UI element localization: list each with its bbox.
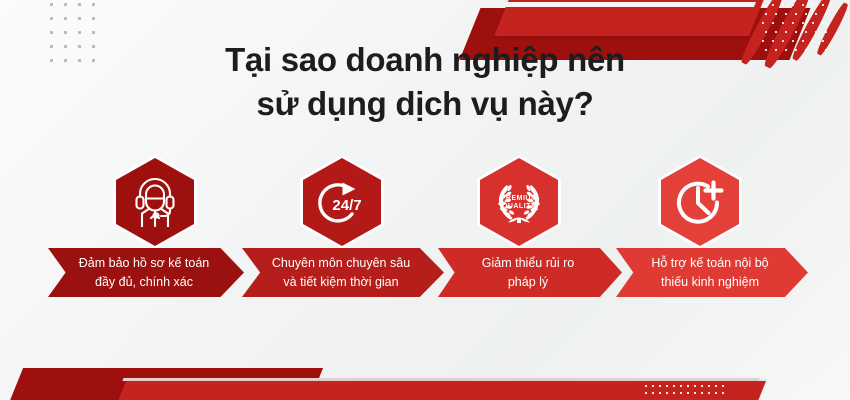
dot [645,392,647,394]
dot [708,385,710,387]
dot [815,13,817,15]
dot [680,385,682,387]
dot [782,4,784,6]
dot [792,22,794,24]
page-title-line-2: sử dụng dịch vụ này? [0,82,850,126]
step-arrow-3-line-2: pháp lý [482,273,574,291]
step-arrow-1[interactable]: Đảm bảo hồ sơ kế toán đầy đủ, chính xác [48,248,244,297]
step-arrow-2-text: Chuyên môn chuyên sâu và tiết kiệm thời … [250,254,436,290]
step-arrow-4-text: Hỗ trợ kế toán nội bộ thiếu kinh nghiệm [629,254,794,290]
page-title: Tại sao doanh nghiệp nên sử dụng dịch vụ… [0,38,850,125]
step-arrow-3[interactable]: Giảm thiểu rủi ro pháp lý [438,248,622,297]
dot [50,17,53,20]
step-arrow-2-line-1: Chuyên môn chuyên sâu [272,254,410,272]
dot [805,13,807,15]
page-title-line-1: Tại sao doanh nghiệp nên [0,38,850,82]
step-arrow-3-text: Giảm thiểu rủi ro pháp lý [460,254,600,290]
dot [680,392,682,394]
dot [785,13,787,15]
dot [78,31,81,34]
dot [795,31,797,33]
dot [666,385,668,387]
dot [708,392,710,394]
dot [652,392,654,394]
dot [92,17,95,20]
hexagon-frame-4 [658,155,742,249]
step-arrow-2-line-2: và tiết kiệm thời gian [272,273,410,291]
dot [673,392,675,394]
step-icon-2[interactable]: 24/7 [300,155,384,249]
hexagon-fill-2: 24/7 [303,158,381,246]
hexagon-fill-3: PREMIUM QUALITY [480,158,558,246]
dot [687,385,689,387]
dot [659,385,661,387]
dot [825,13,827,15]
dot [701,385,703,387]
infographic-canvas: Tại sao doanh nghiệp nên sử dụng dịch vụ… [0,0,850,400]
dot [645,385,647,387]
dot [652,385,654,387]
dot [775,31,777,33]
dot [92,31,95,34]
step-arrow-2[interactable]: Chuyên môn chuyên sâu và tiết kiệm thời … [242,248,444,297]
headset-support-icon [132,177,178,227]
icon-label-2: 24/7 [332,197,361,214]
dot [802,22,804,24]
dot [822,4,824,6]
dot [815,31,817,33]
dot [802,4,804,6]
dot [78,17,81,20]
dot [822,22,824,24]
bottom-dot-overlay [645,385,730,400]
dot [673,385,675,387]
bottom-band-bright [114,381,766,400]
dot [762,22,764,24]
dot [659,392,661,394]
step-icon-1[interactable] [113,155,197,249]
step-arrow-1-line-1: Đảm bảo hồ sơ kế toán [79,254,210,272]
hexagon-frame-3: PREMIUM QUALITY [477,155,561,249]
hexagon-fill-4 [661,158,739,246]
dot [64,17,67,20]
dot [792,4,794,6]
dot [762,4,764,6]
dot [694,392,696,394]
step-arrow-4-line-1: Hỗ trợ kế toán nội bộ [651,254,768,272]
dot [666,392,668,394]
dot [722,385,724,387]
dot [812,22,814,24]
dot [715,392,717,394]
step-arrow-1-text: Đảm bảo hồ sơ kế toán đầy đủ, chính xác [57,254,236,290]
icon-label-3b: QUALITY [502,203,536,210]
dot [825,31,827,33]
dot [715,385,717,387]
step-arrow-4[interactable]: Hỗ trợ kế toán nội bộ thiếu kinh nghiệm [616,248,808,297]
dot [694,385,696,387]
dot [785,31,787,33]
dot [782,22,784,24]
bottom-left-band-dark [7,368,323,400]
dot [92,3,95,6]
dot [775,13,777,15]
dot [805,31,807,33]
dot [722,392,724,394]
clock-plus-icon [675,177,725,227]
step-arrow-1-line-2: đầy đủ, chính xác [79,273,210,291]
top-right-band-bright [494,0,771,36]
dot [795,13,797,15]
dot [64,3,67,6]
step-icon-4[interactable] [658,155,742,249]
step-arrow-4-line-2: thiếu kinh nghiệm [651,273,768,291]
dot [50,3,53,6]
dot [765,13,767,15]
dot [812,4,814,6]
dot [64,31,67,34]
bottom-band-divider [122,378,759,381]
top-right-band-divider [496,2,756,7]
dot [701,392,703,394]
hexagon-frame-1 [113,155,197,249]
hexagon-fill-1 [116,158,194,246]
icon-label-3a: PREMIUM [501,195,538,202]
dot [78,3,81,6]
hexagon-frame-2: 24/7 [300,155,384,249]
clock-24-7-icon: 24/7 [317,177,367,227]
dot [772,4,774,6]
dot [765,31,767,33]
dot [687,392,689,394]
step-icon-3[interactable]: PREMIUM QUALITY [477,155,561,249]
dot [772,22,774,24]
premium-quality-laurel-icon: PREMIUM QUALITY [491,177,547,227]
step-arrow-3-line-1: Giảm thiểu rủi ro [482,254,574,272]
dot [50,31,53,34]
